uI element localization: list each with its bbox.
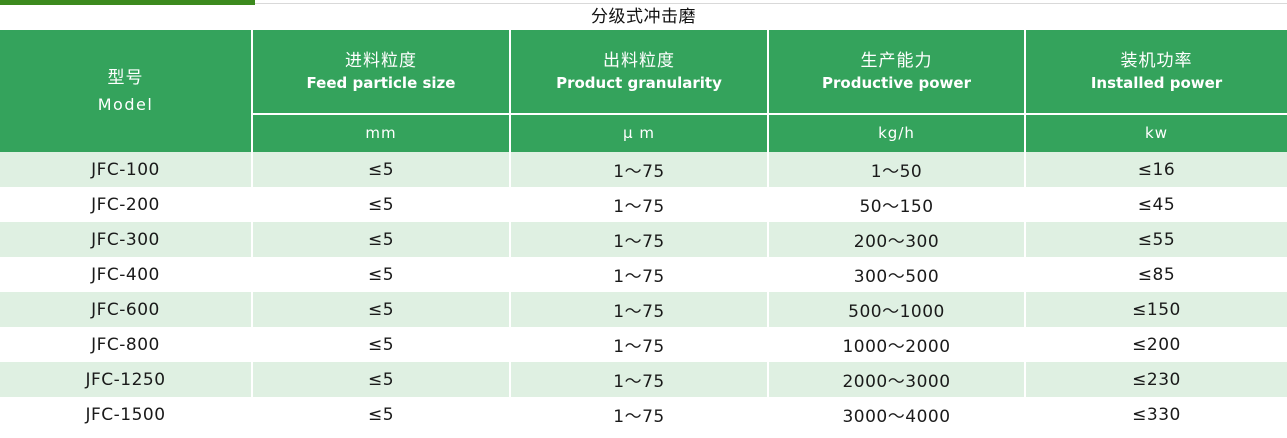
cell-model: JFC-800 [0, 327, 252, 362]
column-header-feed: 进料粒度 Feed particle size [252, 30, 510, 114]
table-row: JFC-100≤51～751～50≤16 [0, 152, 1287, 187]
table-row: JFC-600≤51～75500～1000≤150 [0, 292, 1287, 327]
cell-feed: ≤5 [252, 327, 510, 362]
cell-feed: ≤5 [252, 187, 510, 222]
cell-model: JFC-400 [0, 257, 252, 292]
cell-granularity: 1～75 [510, 257, 768, 292]
cell-granularity: 1～75 [510, 327, 768, 362]
cell-model: JFC-100 [0, 152, 252, 187]
table-row: JFC-1500≤51～753000～4000≤330 [0, 397, 1287, 432]
cell-installed: ≤200 [1025, 327, 1287, 362]
column-header-installed-en: Installed power [1026, 73, 1287, 93]
column-header-installed: 装机功率 Installed power [1025, 30, 1287, 114]
cell-productive: 300～500 [768, 257, 1025, 292]
unit-granularity: μ m [623, 124, 655, 142]
cell-installed: ≤45 [1025, 187, 1287, 222]
cell-productive: 200～300 [768, 222, 1025, 257]
column-header-model-cn: 型号 [0, 65, 251, 92]
cell-granularity: 1～75 [510, 152, 768, 187]
column-header-productive-en: Productive power [769, 73, 1024, 93]
unit-installed: kw [1145, 124, 1168, 142]
table-row: JFC-400≤51～75300～500≤85 [0, 257, 1287, 292]
page-title-row: 分级式冲击磨 [0, 6, 1287, 28]
cell-productive: 500～1000 [768, 292, 1025, 327]
table-header: 型号 Model 进料粒度 Feed particle size 出料粒度 Pr… [0, 30, 1287, 152]
cell-model: JFC-1250 [0, 362, 252, 397]
column-header-productive-cn: 生产能力 [769, 50, 1024, 73]
unit-header-productive: kg/h [768, 114, 1025, 152]
cell-granularity: 1～75 [510, 187, 768, 222]
table-row: JFC-1250≤51～752000～3000≤230 [0, 362, 1287, 397]
cell-model: JFC-300 [0, 222, 252, 257]
cell-installed: ≤85 [1025, 257, 1287, 292]
column-header-granularity-en: Product granularity [511, 73, 767, 93]
column-header-model: 型号 Model [0, 30, 252, 152]
cell-granularity: 1～75 [510, 222, 768, 257]
cell-installed: ≤55 [1025, 222, 1287, 257]
table-row: JFC-200≤51～7550～150≤45 [0, 187, 1287, 222]
cell-installed: ≤230 [1025, 362, 1287, 397]
accent-strip [0, 0, 255, 5]
table-row: JFC-800≤51～751000～2000≤200 [0, 327, 1287, 362]
unit-productive: kg/h [878, 124, 915, 142]
cell-feed: ≤5 [252, 362, 510, 397]
table-body: JFC-100≤51～751～50≤16JFC-200≤51～7550～150≤… [0, 152, 1287, 432]
cell-feed: ≤5 [252, 222, 510, 257]
cell-model: JFC-600 [0, 292, 252, 327]
column-header-installed-cn: 装机功率 [1026, 50, 1287, 73]
cell-installed: ≤16 [1025, 152, 1287, 187]
cell-feed: ≤5 [252, 292, 510, 327]
column-header-feed-en: Feed particle size [253, 73, 509, 93]
header-row-main: 型号 Model 进料粒度 Feed particle size 出料粒度 Pr… [0, 30, 1287, 114]
unit-header-installed: kw [1025, 114, 1287, 152]
cell-granularity: 1～75 [510, 292, 768, 327]
column-header-feed-cn: 进料粒度 [253, 50, 509, 73]
cell-productive: 2000～3000 [768, 362, 1025, 397]
cell-model: JFC-200 [0, 187, 252, 222]
column-header-granularity-cn: 出料粒度 [511, 50, 767, 73]
cell-productive: 3000～4000 [768, 397, 1025, 432]
cell-granularity: 1～75 [510, 362, 768, 397]
unit-feed: mm [365, 124, 396, 142]
cell-installed: ≤150 [1025, 292, 1287, 327]
column-header-productive: 生产能力 Productive power [768, 30, 1025, 114]
cell-installed: ≤330 [1025, 397, 1287, 432]
table-row: JFC-300≤51～75200～300≤55 [0, 222, 1287, 257]
cell-model: JFC-1500 [0, 397, 252, 432]
cell-productive: 50～150 [768, 187, 1025, 222]
column-header-granularity: 出料粒度 Product granularity [510, 30, 768, 114]
header-divider-rule [255, 3, 1287, 4]
cell-feed: ≤5 [252, 257, 510, 292]
cell-productive: 1000～2000 [768, 327, 1025, 362]
unit-header-granularity: μ m [510, 114, 768, 152]
page-title: 分级式冲击磨 [591, 9, 696, 26]
cell-feed: ≤5 [252, 152, 510, 187]
cell-granularity: 1～75 [510, 397, 768, 432]
column-header-model-en: Model [0, 92, 251, 118]
specification-table: 型号 Model 进料粒度 Feed particle size 出料粒度 Pr… [0, 30, 1287, 432]
cell-feed: ≤5 [252, 397, 510, 432]
cell-productive: 1～50 [768, 152, 1025, 187]
unit-header-feed: mm [252, 114, 510, 152]
